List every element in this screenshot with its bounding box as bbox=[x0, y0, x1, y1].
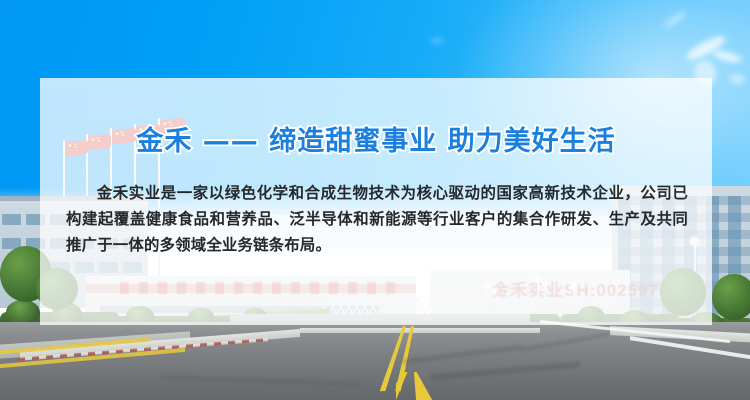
headline-text: 金禾 —— 缔造甜蜜事业 助力美好生活 bbox=[136, 119, 615, 158]
cloud bbox=[430, 38, 444, 43]
body-paragraph: 金禾实业是一家以绿色化学和合成生物技术为核心驱动的国家高新技术企业，公司已构建起… bbox=[66, 180, 688, 258]
headline: 金禾 —— 缔造甜蜜事业 助力美好生活 bbox=[40, 78, 712, 158]
promo-banner: 金禾实业SH:002597 bbox=[0, 0, 750, 400]
tree bbox=[712, 274, 750, 320]
curb-center bbox=[300, 328, 540, 333]
shrub bbox=[6, 300, 40, 324]
cloud bbox=[729, 74, 745, 84]
